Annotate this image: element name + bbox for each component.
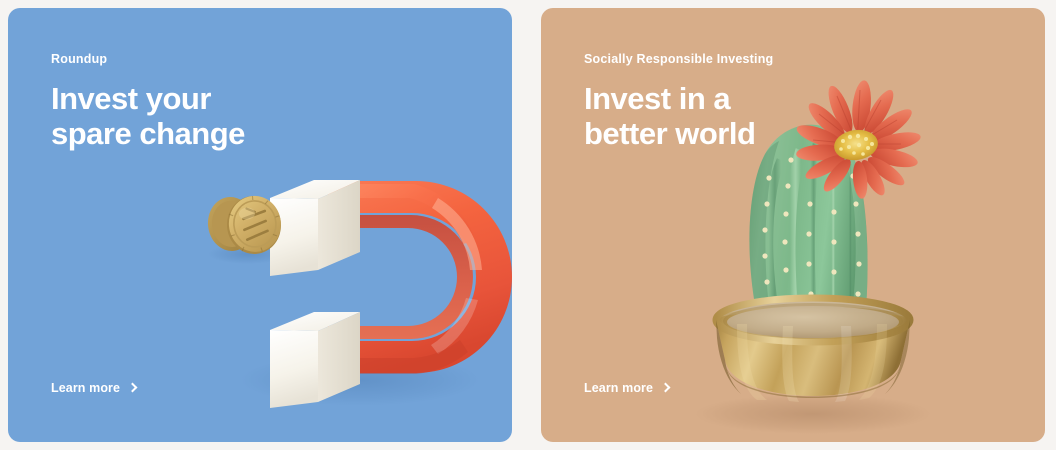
promo-card-socially-responsible-investing[interactable]: Socially Responsible Investing Invest in… — [541, 8, 1045, 442]
card-eyebrow-sri: Socially Responsible Investing — [584, 52, 773, 67]
learn-more-label: Learn more — [51, 381, 120, 395]
chevron-right-icon — [128, 383, 138, 393]
card-headline-sri: Invest in a better world — [584, 81, 773, 151]
card-text-block-sri: Socially Responsible Investing Invest in… — [584, 52, 773, 151]
learn-more-link-sri[interactable]: Learn more — [584, 381, 669, 395]
card-headline-roundup: Invest your spare change — [51, 81, 245, 151]
chevron-right-icon — [661, 383, 671, 393]
promo-cards-row: Roundup Invest your spare change Learn m… — [8, 8, 1048, 442]
promo-card-roundup[interactable]: Roundup Invest your spare change Learn m… — [8, 8, 512, 442]
learn-more-link-roundup[interactable]: Learn more — [51, 381, 136, 395]
learn-more-label: Learn more — [584, 381, 653, 395]
card-text-block-roundup: Roundup Invest your spare change — [51, 52, 245, 151]
card-eyebrow-roundup: Roundup — [51, 52, 245, 67]
